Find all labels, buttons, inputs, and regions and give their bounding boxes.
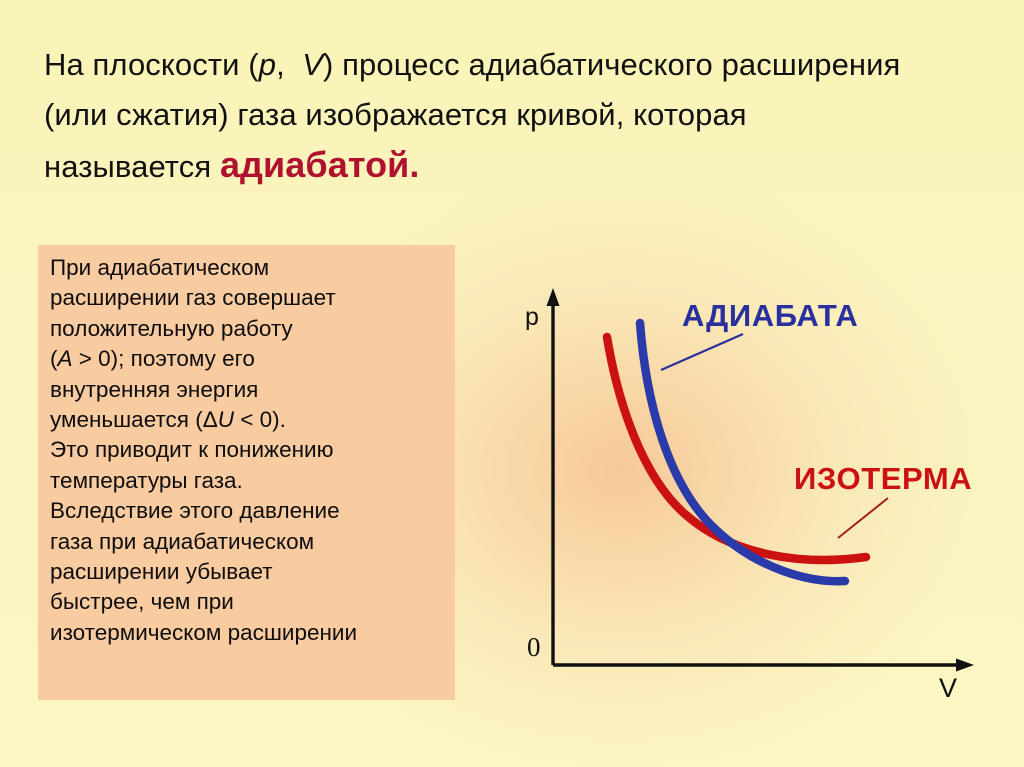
isotherm-leader-line [838,498,888,538]
adiabat-label: АДИАБАТА [682,298,858,334]
heading-line-1: На плоскости (p, V) процесс адиабатическ… [44,40,990,90]
variable-U: U [218,407,234,432]
note-line-4: (A > 0); поэтому его [50,344,450,374]
note-line-7: Это приводит к понижению [50,435,450,465]
note-line-5: внутренняя энергия [50,375,450,405]
pv-diagram [500,270,1024,730]
variable-A: A [58,346,73,371]
x-axis [553,659,974,672]
note-line-10: газа при адиабатическом [50,527,450,557]
y-axis [547,288,560,665]
isotherm-label: ИЗОТЕРМА [794,461,972,497]
heading-keyword-adiabat: адиабатой [220,144,409,185]
explanation-panel: При адиабатическом расширении газ соверш… [38,245,455,700]
page-title: На плоскости (p, V) процесс адиабатическ… [44,40,990,192]
heading-keyword-period: . [409,144,419,185]
variable-p: p [259,47,276,82]
heading-line-2: (или сжатия) газа изображается кривой, к… [44,90,990,140]
note-line-1: При адиабатическом [50,253,450,283]
note-line-3: положительную работу [50,314,450,344]
origin-label: 0 [527,632,541,663]
note-line-13: изотермическом расширении [50,618,450,648]
note-line-6: уменьшается (ΔU < 0). [50,405,450,435]
heading-line-3: называется адиабатой. [44,140,990,192]
x-axis-label: V [939,673,957,704]
note-line-2: расширении газ совершает [50,283,450,313]
slide-canvas: На плоскости (p, V) процесс адиабатическ… [0,0,1024,767]
adiabat-curve [640,323,845,581]
variable-V: V [302,47,323,82]
note-line-11: расширении убывает [50,557,450,587]
adiabat-leader-line [661,334,743,370]
note-line-9: Вследствие этого давление [50,496,450,526]
explanation-text: При адиабатическом расширении газ соверш… [50,253,450,648]
note-line-8: температуры газа. [50,466,450,496]
note-line-12: быстрее, чем при [50,587,450,617]
y-axis-label: p [525,303,539,332]
